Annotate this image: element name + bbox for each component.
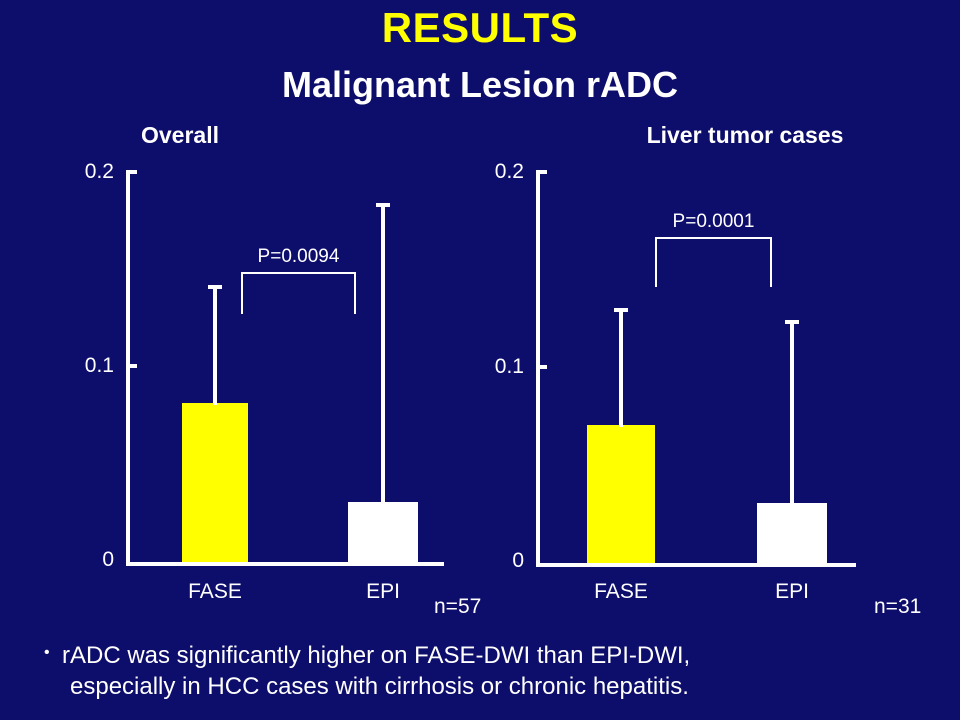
- x-category-label-epi: EPI: [742, 580, 842, 604]
- error-cap-liver-fase: [614, 308, 628, 312]
- x-category-label-epi: EPI: [333, 580, 433, 604]
- bar-liver-fase[interactable]: [587, 425, 655, 563]
- chart-panel-liver-tumor: Liver tumor cases 0.2 0.1 0 P=0.0001: [470, 0, 950, 640]
- x-axis-line: [536, 563, 856, 567]
- conclusion-line-2: especially in HCC cases with cirrhosis o…: [44, 672, 924, 703]
- error-bar-overall-fase: [213, 285, 217, 405]
- y-tick-0.1: [536, 365, 547, 369]
- bar-overall-fase[interactable]: [182, 403, 248, 562]
- significance-bracket-overall: P=0.0094: [241, 272, 356, 314]
- y-tick-label-0: 0: [458, 549, 524, 573]
- bracket-left-leg: [241, 272, 243, 314]
- significance-bracket-liver: P=0.0001: [655, 237, 772, 287]
- error-bar-overall-epi: [381, 203, 385, 503]
- bracket-right-leg: [354, 272, 356, 314]
- error-bar-liver-epi: [790, 320, 794, 504]
- bar-liver-epi[interactable]: [757, 503, 827, 563]
- y-tick-0.2: [126, 170, 137, 174]
- x-category-label-fase: FASE: [165, 580, 265, 604]
- bracket-right-leg: [770, 237, 772, 287]
- conclusion-line-1: rADC was significantly higher on FASE-DW…: [44, 641, 924, 672]
- y-tick-label-0.1: 0.1: [48, 354, 114, 378]
- conclusion-bullet: • rADC was significantly higher on FASE-…: [44, 641, 924, 702]
- y-tick-label-0: 0: [48, 548, 114, 572]
- slide-canvas: RESULTS Malignant Lesion rADC Overall 0.…: [0, 0, 960, 720]
- y-tick-label-0.1: 0.1: [458, 355, 524, 379]
- plot-area-overall: 0.2 0.1 0 P=0.0094 FASE EPI: [0, 0, 480, 640]
- x-category-label-fase: FASE: [571, 580, 671, 604]
- bracket-left-leg: [655, 237, 657, 287]
- y-tick-label-0.2: 0.2: [48, 160, 114, 184]
- error-cap-overall-fase: [208, 285, 222, 289]
- y-axis-line: [126, 170, 130, 566]
- sample-size-label-liver: n=31: [874, 595, 921, 619]
- error-cap-overall-epi: [376, 203, 390, 207]
- chart-panel-overall: Overall 0.2 0.1 0: [0, 0, 480, 640]
- y-tick-0.2: [536, 170, 547, 174]
- error-bar-liver-fase: [619, 308, 623, 427]
- error-cap-liver-epi: [785, 320, 799, 324]
- y-tick-label-0.2: 0.2: [458, 160, 524, 184]
- bullet-icon: •: [44, 643, 50, 663]
- p-value-label-liver: P=0.0001: [655, 211, 772, 233]
- y-tick-0.1: [126, 364, 137, 368]
- bar-overall-epi[interactable]: [348, 502, 418, 562]
- x-axis-line: [126, 562, 444, 566]
- p-value-label-overall: P=0.0094: [241, 246, 356, 268]
- bracket-top-line: [241, 272, 356, 274]
- bracket-top-line: [655, 237, 772, 239]
- plot-area-liver-tumor: 0.2 0.1 0 P=0.0001 FASE EPI: [470, 0, 950, 640]
